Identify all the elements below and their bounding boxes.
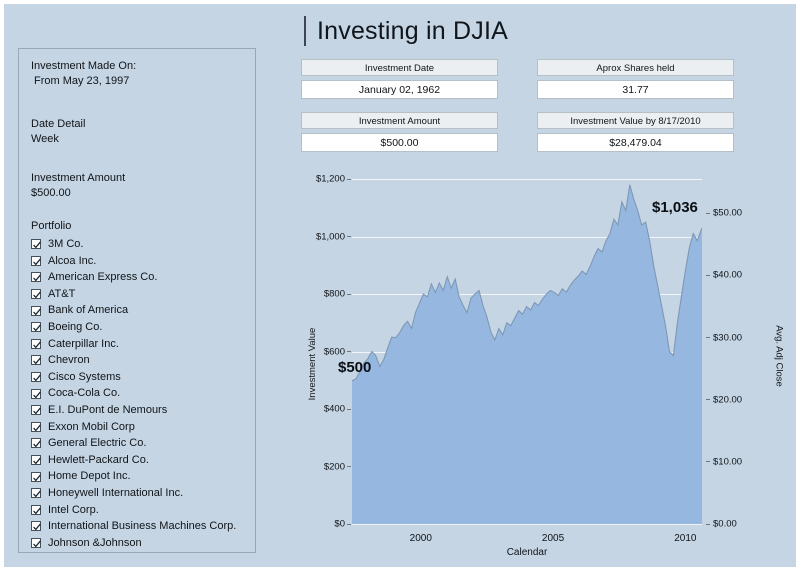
portfolio-item-label: Bank of America <box>48 302 128 319</box>
y-axis-tick-label: $1,000 <box>316 231 345 242</box>
y-axis-label-left: Investment Value <box>307 328 318 401</box>
portfolio-item-label: Hewlett-Packard Co. <box>48 452 149 469</box>
checkbox-checked-icon[interactable] <box>31 422 41 432</box>
tick-mark <box>347 179 351 180</box>
y-axis-tick-right: $0.00 <box>713 519 737 530</box>
portfolio-item[interactable]: Boeing Co. <box>31 319 243 336</box>
portfolio-item[interactable]: Bank of America <box>31 302 243 319</box>
report-canvas: Investing in DJIA Investment Date Januar… <box>4 4 796 567</box>
portfolio-item-label: E.I. DuPont de Nemours <box>48 402 167 419</box>
portfolio-item-label: Home Depot Inc. <box>48 468 131 485</box>
y-axis-tick-right: $30.00 <box>713 332 742 343</box>
y-axis-tick-label: $30.00 <box>713 332 742 343</box>
y-axis-tick-left: $0 <box>334 519 345 530</box>
portfolio-item[interactable]: 3M Co. <box>31 236 243 253</box>
tick-mark <box>347 236 351 237</box>
portfolio-item-label: Chevron <box>48 352 90 369</box>
checkbox-checked-icon[interactable] <box>31 272 41 282</box>
portfolio-item[interactable]: Honeywell International Inc. <box>31 485 243 502</box>
y-axis-tick-left: $800 <box>324 289 345 300</box>
portfolio-item-label: Honeywell International Inc. <box>48 485 183 502</box>
investment-value-chart: Investment Value Avg. Adj Close Calendar… <box>266 169 786 559</box>
kpi-label: Investment Date <box>301 59 498 76</box>
area-series <box>352 179 702 525</box>
portfolio-item[interactable]: Hewlett-Packard Co. <box>31 452 243 469</box>
portfolio-item[interactable]: Johnson &Johnson <box>31 535 243 552</box>
filters-panel: Investment Made On: From May 23, 1997 Da… <box>18 48 256 553</box>
checkbox-checked-icon[interactable] <box>31 438 41 448</box>
sidebar-investment-amount-label: Investment Amount <box>31 171 243 186</box>
portfolio-item-label: International Business Machines Corp. <box>48 518 236 535</box>
kpi-label: Investment Amount <box>301 112 498 129</box>
checkbox-checked-icon[interactable] <box>31 355 41 365</box>
y-axis-tick-left: $600 <box>324 346 345 357</box>
y-axis-tick-label: $800 <box>324 289 345 300</box>
y-axis-tick-left: $1,000 <box>316 231 345 242</box>
x-axis-tick: 2005 <box>542 533 564 544</box>
checkbox-checked-icon[interactable] <box>31 256 41 266</box>
portfolio-item[interactable]: Home Depot Inc. <box>31 468 243 485</box>
checkbox-checked-icon[interactable] <box>31 339 41 349</box>
portfolio-item-label: 3M Co. <box>48 236 83 253</box>
portfolio-item[interactable]: Cisco Systems <box>31 369 243 386</box>
portfolio-checkbox-list: 3M Co.Alcoa Inc.American Express Co.AT&T… <box>31 236 243 551</box>
portfolio-item[interactable]: E.I. DuPont de Nemours <box>31 402 243 419</box>
y-axis-tick-label: $20.00 <box>713 394 742 405</box>
y-axis-tick-label: $400 <box>324 404 345 415</box>
y-axis-tick-label: $200 <box>324 461 345 472</box>
kpi-card-investment-amount: Investment Amount $500.00 <box>301 112 498 152</box>
portfolio-item-label: Alcoa Inc. <box>48 253 96 270</box>
portfolio-item-label: Intel Corp. <box>48 502 99 519</box>
kpi-card-aprox-shares: Aprox Shares held 31.77 <box>537 59 734 99</box>
y-axis-tick-label: $0.00 <box>713 519 737 530</box>
portfolio-item-label: AT&T <box>48 286 75 303</box>
portfolio-item[interactable]: Coca-Cola Co. <box>31 385 243 402</box>
portfolio-item-label: Boeing Co. <box>48 319 102 336</box>
checkbox-checked-icon[interactable] <box>31 405 41 415</box>
tick-mark <box>706 461 710 462</box>
y-axis-tick-label: $600 <box>324 346 345 357</box>
x-axis-label: Calendar <box>352 547 702 558</box>
date-detail-value[interactable]: Week <box>31 132 243 147</box>
x-axis-line <box>352 524 702 525</box>
portfolio-item-label: Cisco Systems <box>48 369 121 386</box>
checkbox-checked-icon[interactable] <box>31 372 41 382</box>
title-accent-bar <box>304 16 306 46</box>
kpi-label: Aprox Shares held <box>537 59 734 76</box>
x-axis-tick: 2000 <box>410 533 432 544</box>
y-axis-tick-right: $50.00 <box>713 208 742 219</box>
portfolio-item-label: Johnson &Johnson <box>48 535 142 552</box>
y-axis-tick-left: $400 <box>324 404 345 415</box>
page-title: Investing in DJIA <box>304 16 508 46</box>
tick-mark <box>706 337 710 338</box>
checkbox-checked-icon[interactable] <box>31 521 41 531</box>
kpi-value: January 02, 1962 <box>301 80 498 99</box>
tick-mark <box>706 399 710 400</box>
tick-mark <box>347 524 351 525</box>
checkbox-checked-icon[interactable] <box>31 488 41 498</box>
y-axis-tick-label: $10.00 <box>713 456 742 467</box>
sidebar-investment-amount-value: $500.00 <box>31 186 243 201</box>
portfolio-item[interactable]: American Express Co. <box>31 269 243 286</box>
portfolio-item-label: Caterpillar Inc. <box>48 336 119 353</box>
checkbox-checked-icon[interactable] <box>31 322 41 332</box>
tick-mark <box>706 213 710 214</box>
y-axis-tick-label: $1,200 <box>316 174 345 185</box>
investment-made-on-value: From May 23, 1997 <box>31 74 243 89</box>
portfolio-label: Portfolio <box>31 219 243 234</box>
tick-mark <box>347 294 351 295</box>
checkbox-checked-icon[interactable] <box>31 306 41 316</box>
checkbox-checked-icon[interactable] <box>31 239 41 249</box>
portfolio-item[interactable]: General Electric Co. <box>31 435 243 452</box>
portfolio-item[interactable]: Caterpillar Inc. <box>31 336 243 353</box>
y-axis-tick-label: $40.00 <box>713 270 742 281</box>
x-axis-tick: 2010 <box>674 533 696 544</box>
kpi-value: $500.00 <box>301 133 498 152</box>
kpi-card-investment-value: Investment Value by 8/17/2010 $28,479.04 <box>537 112 734 152</box>
series-area-fill <box>352 185 702 524</box>
portfolio-item[interactable]: AT&T <box>31 286 243 303</box>
page-title-text: Investing in DJIA <box>317 16 508 46</box>
portfolio-item-label: Exxon Mobil Corp <box>48 419 135 436</box>
date-detail-label: Date Detail <box>31 117 243 132</box>
checkbox-checked-icon[interactable] <box>31 472 41 482</box>
kpi-label: Investment Value by 8/17/2010 <box>537 112 734 129</box>
y-axis-tick-label: $0 <box>334 519 345 530</box>
y-axis-tick-left: $1,200 <box>316 174 345 185</box>
kpi-card-investment-date: Investment Date January 02, 1962 <box>301 59 498 99</box>
checkbox-checked-icon[interactable] <box>31 389 41 399</box>
portfolio-item[interactable]: Alcoa Inc. <box>31 253 243 270</box>
y-axis-tick-right: $20.00 <box>713 394 742 405</box>
annotation-start-value: $500 <box>338 359 371 376</box>
portfolio-item[interactable]: Intel Corp. <box>31 502 243 519</box>
y-axis-tick-left: $200 <box>324 461 345 472</box>
kpi-value: $28,479.04 <box>537 133 734 152</box>
tick-mark <box>347 409 351 410</box>
y-axis-tick-label: $50.00 <box>713 208 742 219</box>
checkbox-checked-icon[interactable] <box>31 538 41 548</box>
tick-mark <box>706 275 710 276</box>
portfolio-item-label: Coca-Cola Co. <box>48 385 120 402</box>
checkbox-checked-icon[interactable] <box>31 505 41 515</box>
portfolio-item-label: General Electric Co. <box>48 435 146 452</box>
tick-mark <box>347 351 351 352</box>
y-axis-tick-right: $40.00 <box>713 270 742 281</box>
portfolio-item[interactable]: Chevron <box>31 352 243 369</box>
portfolio-item[interactable]: International Business Machines Corp. <box>31 518 243 535</box>
checkbox-checked-icon[interactable] <box>31 455 41 465</box>
kpi-value: 31.77 <box>537 80 734 99</box>
checkbox-checked-icon[interactable] <box>31 289 41 299</box>
tick-mark <box>706 524 710 525</box>
portfolio-item[interactable]: Exxon Mobil Corp <box>31 419 243 436</box>
plot-area: $0$200$400$600$800$1,000$1,200$0.00$10.0… <box>352 179 702 524</box>
annotation-end-value: $1,036 <box>652 199 698 216</box>
y-axis-label-right: Avg. Adj Close <box>773 325 784 387</box>
investment-made-on-label: Investment Made On: <box>31 59 243 74</box>
portfolio-item-label: American Express Co. <box>48 269 157 286</box>
tick-mark <box>347 466 351 467</box>
y-axis-tick-right: $10.00 <box>713 456 742 467</box>
